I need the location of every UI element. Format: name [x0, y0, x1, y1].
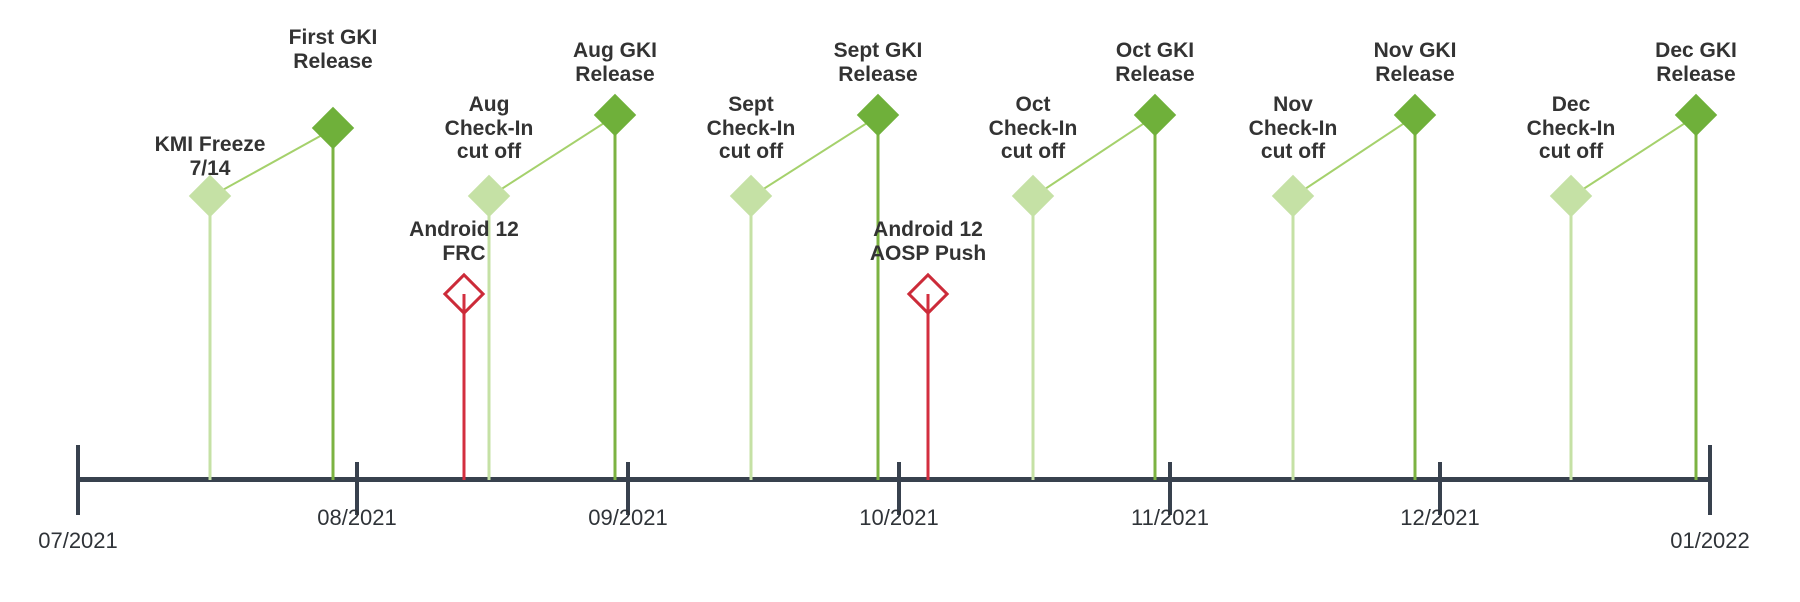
milestone-diamond-icon[interactable] [443, 273, 485, 315]
milestone-stem [209, 196, 212, 480]
milestone-diamond-icon[interactable] [1394, 94, 1436, 136]
milestone-stem [1154, 115, 1157, 480]
axis-tick [76, 445, 80, 515]
milestone-label: Dec GKI Release [1655, 39, 1737, 86]
milestone-stem [750, 196, 753, 480]
axis-tick-label: 01/2022 [1670, 528, 1750, 554]
milestone-stem [1292, 196, 1295, 480]
milestone-diamond-icon[interactable] [594, 94, 636, 136]
timeline-axis-line [78, 477, 1710, 482]
axis-tick [1708, 445, 1712, 515]
milestone-stem [332, 128, 335, 480]
milestone-diamond-icon[interactable] [730, 175, 772, 217]
milestone-label: First GKI Release [289, 26, 378, 73]
milestone-label: Dec Check-In cut off [1527, 93, 1616, 164]
milestone-stem [614, 115, 617, 480]
milestone-label: Oct Check-In cut off [989, 93, 1078, 164]
milestone-label: Sept Check-In cut off [707, 93, 796, 164]
milestone-stem [1695, 115, 1698, 480]
milestone-stem [927, 294, 930, 480]
milestone-diamond-icon[interactable] [1272, 175, 1314, 217]
axis-tick-label: 08/2021 [317, 505, 397, 531]
milestone-diamond-icon[interactable] [857, 94, 899, 136]
timeline-diagram: KMI Freeze 7/14First GKI ReleaseAug Chec… [0, 0, 1800, 602]
milestone-label: KMI Freeze 7/14 [155, 133, 266, 180]
axis-tick-label: 11/2021 [1131, 505, 1209, 531]
milestone-diamond-icon[interactable] [1675, 94, 1717, 136]
milestone-diamond-icon[interactable] [907, 273, 949, 315]
milestone-label: Nov GKI Release [1374, 39, 1457, 86]
milestone-stem [877, 115, 880, 480]
milestone-label: Aug Check-In cut off [445, 93, 534, 164]
axis-tick-label: 10/2021 [859, 505, 939, 531]
milestone-label: Oct GKI Release [1115, 39, 1194, 86]
axis-tick-label: 07/2021 [38, 528, 118, 554]
milestone-label: Nov Check-In cut off [1249, 93, 1338, 164]
milestone-diamond-icon[interactable] [312, 107, 354, 149]
milestone-diamond-icon[interactable] [1550, 175, 1592, 217]
milestone-diamond-icon[interactable] [189, 175, 231, 217]
milestone-label: Android 12 AOSP Push [870, 218, 986, 265]
milestone-stem [1570, 196, 1573, 480]
axis-tick-label: 09/2021 [588, 505, 668, 531]
milestone-diamond-icon[interactable] [1134, 94, 1176, 136]
milestone-stem [1414, 115, 1417, 480]
milestone-label: Sept GKI Release [834, 39, 923, 86]
milestone-diamond-icon[interactable] [468, 175, 510, 217]
milestone-diamond-icon[interactable] [1012, 175, 1054, 217]
milestone-stem [463, 294, 466, 480]
milestone-stem [1032, 196, 1035, 480]
axis-tick-label: 12/2021 [1400, 505, 1480, 531]
milestone-label: Aug GKI Release [573, 39, 657, 86]
milestone-label: Android 12 FRC [409, 218, 519, 265]
